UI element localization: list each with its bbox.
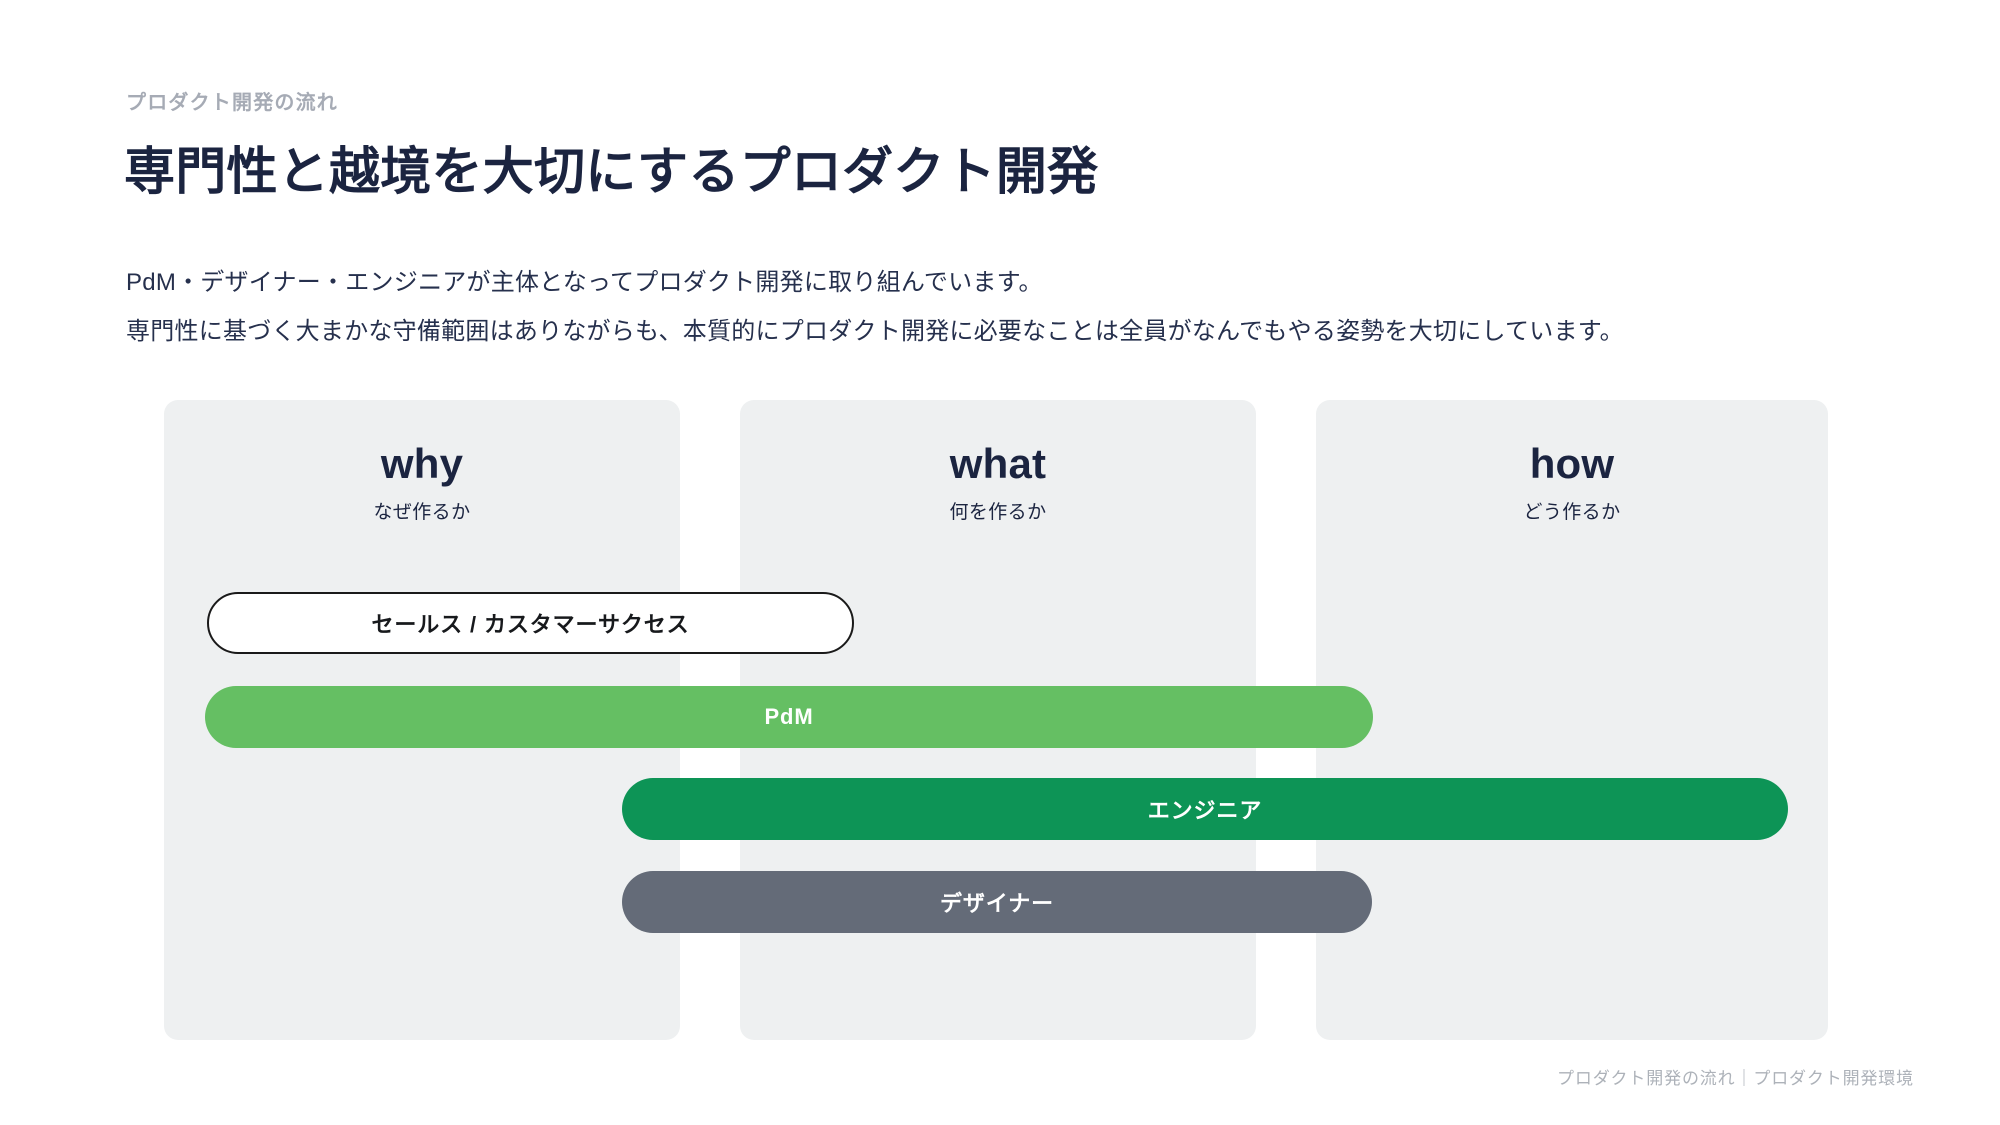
phase-sub-why: なぜ作るか bbox=[164, 497, 680, 524]
phase-panel-how: how どう作るか bbox=[1316, 400, 1828, 1040]
role-bar-pdm: PdM bbox=[205, 686, 1373, 748]
phase-key-how: how bbox=[1316, 442, 1828, 486]
page-title: 専門性と越境を大切にするプロダクト開発 bbox=[124, 130, 1098, 204]
phase-header-how: how どう作るか bbox=[1316, 442, 1828, 524]
phase-sub-how: どう作るか bbox=[1316, 497, 1828, 524]
phase-header-why: why なぜ作るか bbox=[164, 442, 680, 524]
slide-root: プロダクト開発の流れ 専門性と越境を大切にするプロダクト開発 PdM・デザイナー… bbox=[0, 0, 2000, 1125]
footer-breadcrumb: プロダクト開発の流れ｜プロダクト開発環境 bbox=[1557, 1064, 1914, 1089]
eyebrow-label: プロダクト開発の流れ bbox=[126, 86, 338, 115]
phase-key-why: why bbox=[164, 442, 680, 486]
phase-header-what: what 何を作るか bbox=[740, 442, 1256, 524]
body-line-1: PdM・デザイナー・エンジニアが主体となってプロダクト開発に取り組んでいます。 bbox=[126, 258, 1624, 307]
phase-sub-what: 何を作るか bbox=[740, 497, 1256, 524]
role-bar-designer: デザイナー bbox=[622, 871, 1372, 933]
body-paragraph: PdM・デザイナー・エンジニアが主体となってプロダクト開発に取り組んでいます。 … bbox=[126, 258, 1624, 356]
phase-key-what: what bbox=[740, 442, 1256, 486]
body-line-2: 専門性に基づく大まかな守備範囲はありながらも、本質的にプロダクト開発に必要なこと… bbox=[126, 307, 1624, 356]
role-bar-engineer: エンジニア bbox=[622, 778, 1788, 840]
role-bar-sales: セールス / カスタマーサクセス bbox=[207, 592, 854, 654]
